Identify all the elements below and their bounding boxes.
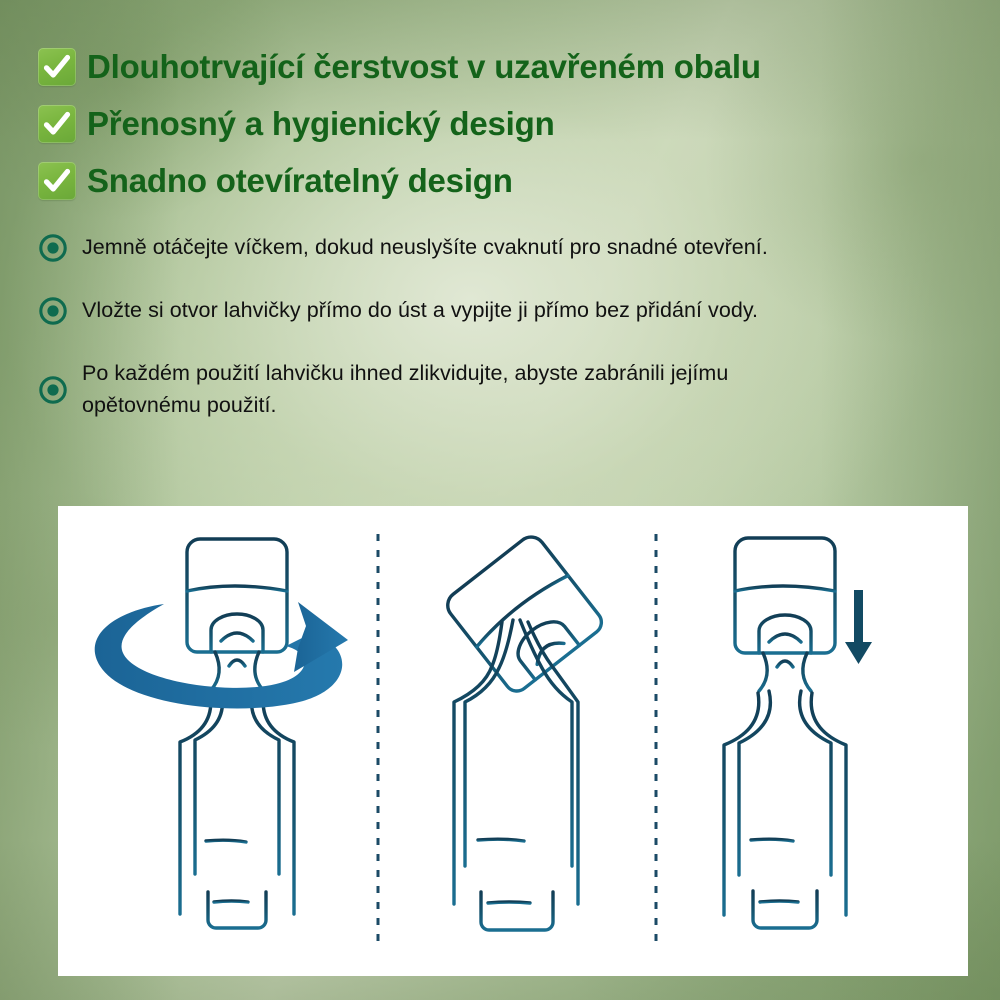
- feature-heading-item-3: Snadno otevíratelný design: [38, 154, 968, 208]
- instruction-label-1: Jemně otáčejte víčkem, dokud neuslyšíte …: [82, 232, 768, 263]
- check-icon: [38, 105, 76, 143]
- instruction-line: Po každém použití lahvičku ihned zlikvid…: [82, 358, 728, 389]
- instruction-line: opětovnému použití.: [82, 390, 728, 421]
- radio-bullet-icon: [38, 375, 68, 405]
- feature-heading-label-2: Přenosný a hygienický design: [87, 107, 555, 142]
- instruction-list: Jemně otáčejte víčkem, dokud neuslyšíte …: [38, 232, 988, 421]
- instruction-line: Vložte si otvor lahvičky přímo do úst a …: [82, 295, 758, 326]
- check-icon: [38, 48, 76, 86]
- down-arrow-icon: [845, 590, 872, 664]
- feature-heading-item-1: Dlouhotrvající čerstvost v uzavřeném oba…: [38, 40, 968, 94]
- instruction-item-2: Vložte si otvor lahvičky přímo do úst a …: [38, 295, 988, 326]
- step-remove-cap: [442, 531, 606, 930]
- feature-heading-label-1: Dlouhotrvající čerstvost v uzavřeném oba…: [87, 50, 761, 85]
- radio-bullet-icon: [38, 296, 68, 326]
- step-press-down: [724, 538, 846, 928]
- feature-heading-item-2: Přenosný a hygienický design: [38, 97, 968, 151]
- step-twist-cap: [180, 539, 294, 928]
- instruction-line: Jemně otáčejte víčkem, dokud neuslyšíte …: [82, 232, 768, 263]
- page-root: Dlouhotrvající čerstvost v uzavřeném oba…: [0, 0, 1000, 1000]
- radio-bullet-icon: [38, 233, 68, 263]
- check-icon: [38, 162, 76, 200]
- instruction-label-3: Po každém použití lahvičku ihned zlikvid…: [82, 358, 728, 420]
- instruction-label-2: Vložte si otvor lahvičky přímo do úst a …: [82, 295, 758, 326]
- feature-heading-label-3: Snadno otevíratelný design: [87, 164, 513, 199]
- bottle-usage-steps-panel: [58, 506, 968, 976]
- instruction-item-3: Po každém použití lahvičku ihned zlikvid…: [38, 358, 988, 420]
- feature-heading-list: Dlouhotrvající čerstvost v uzavřeném oba…: [38, 40, 968, 211]
- instruction-item-1: Jemně otáčejte víčkem, dokud neuslyšíte …: [38, 232, 988, 263]
